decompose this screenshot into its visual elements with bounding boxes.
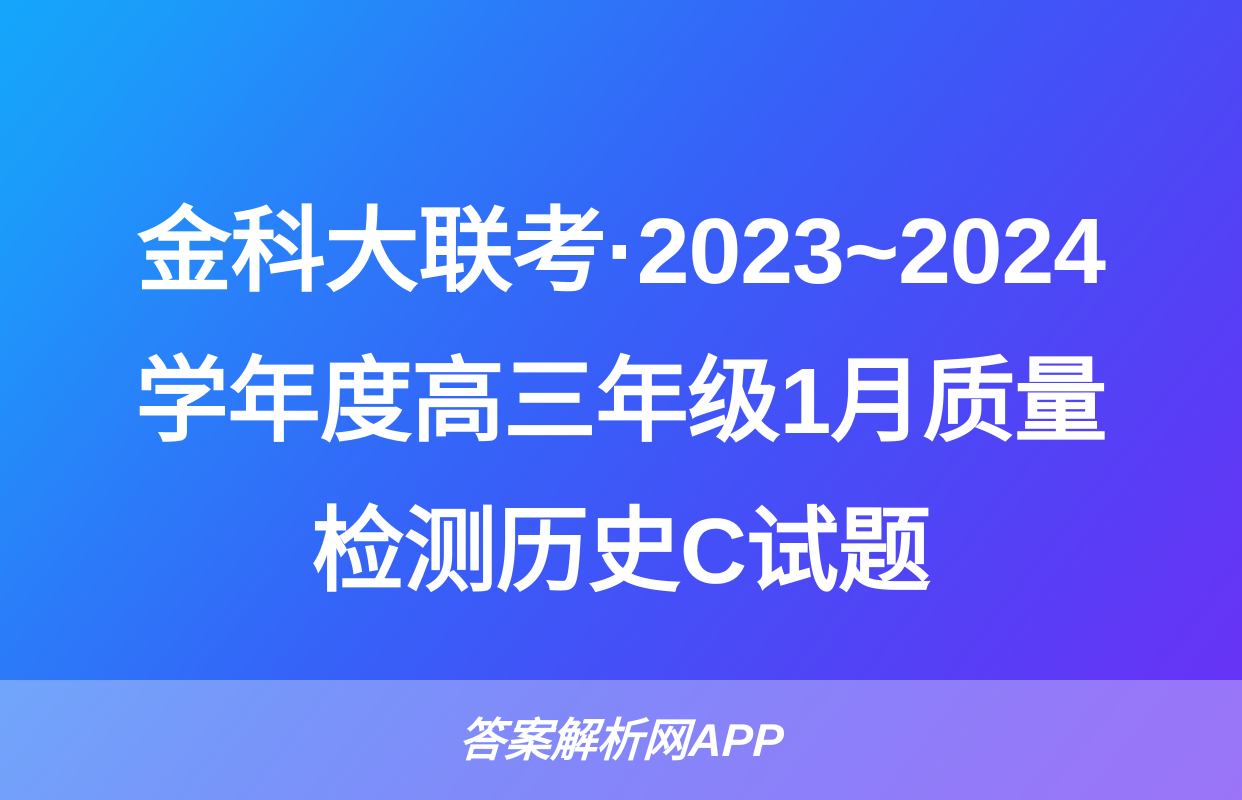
footer-watermark-band: 答案解析网APP <box>0 680 1242 800</box>
title-line-1: 金科大联考·2023~2024 <box>71 176 1171 326</box>
cover-canvas: 金科大联考·2023~2024 学年度高三年级1月质量 检测历史C试题 答案解析… <box>0 0 1242 800</box>
footer-watermark-text: 答案解析网APP <box>457 717 784 763</box>
title-block: 金科大联考·2023~2024 学年度高三年级1月质量 检测历史C试题 <box>0 176 1242 628</box>
title-line-2: 学年度高三年级1月质量 <box>82 326 1160 476</box>
title-line-3: 检测历史C试题 <box>82 476 1160 626</box>
